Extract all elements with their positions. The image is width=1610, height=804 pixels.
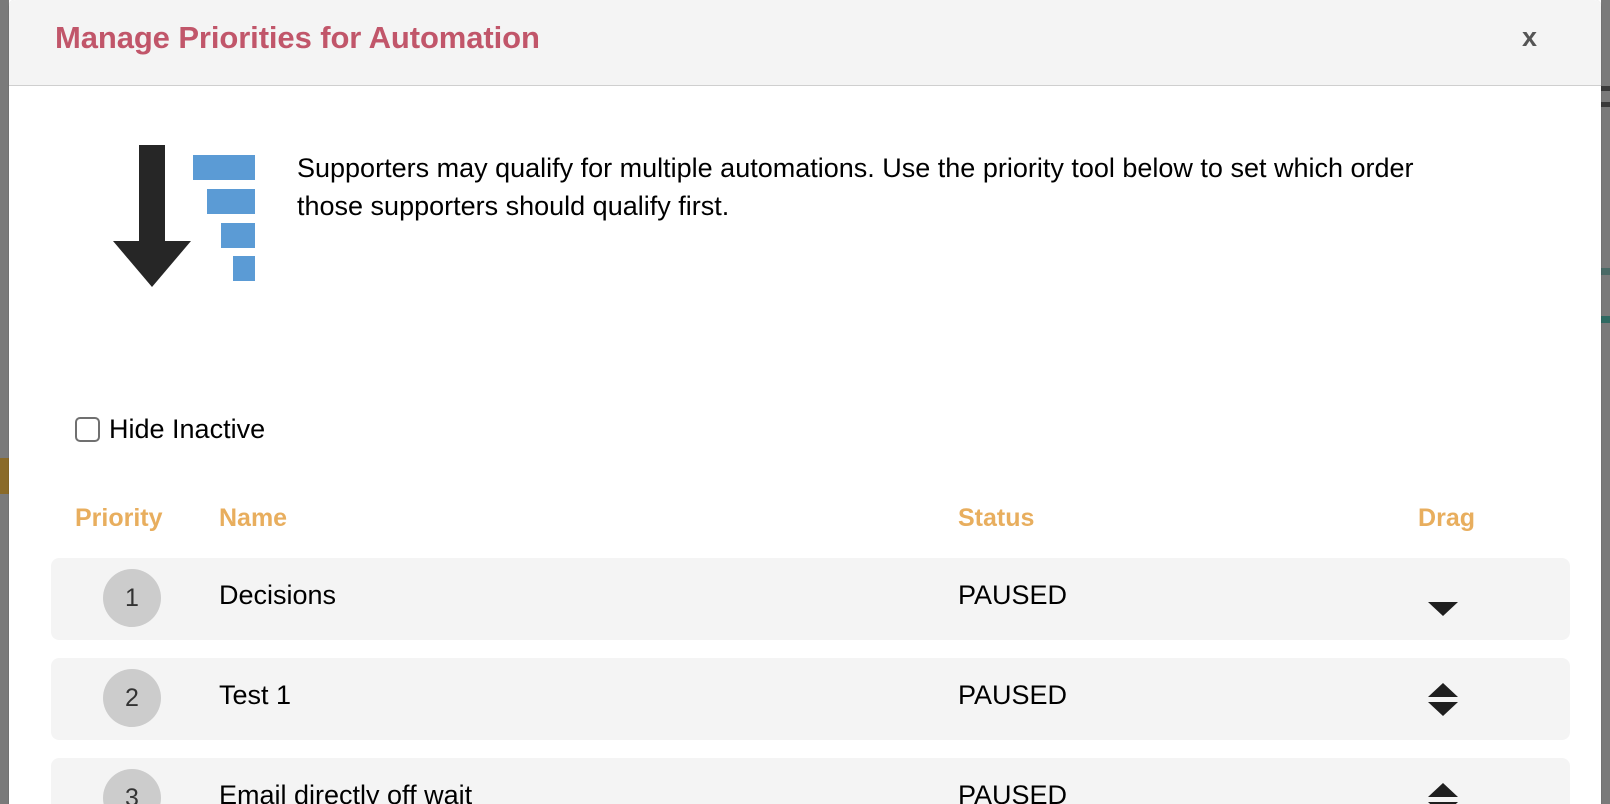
hide-inactive-label[interactable]: Hide Inactive — [109, 416, 265, 443]
status-badge: PAUSED — [958, 580, 1067, 611]
hide-inactive-checkbox[interactable] — [75, 417, 100, 442]
table-row[interactable]: 2Test 1PAUSED — [51, 658, 1570, 740]
priority-badge: 1 — [103, 569, 161, 627]
column-header-priority: Priority — [75, 504, 163, 533]
status-badge: PAUSED — [958, 680, 1067, 711]
table-row[interactable]: 1DecisionsPAUSED — [51, 558, 1570, 640]
column-header-name: Name — [219, 504, 287, 533]
sort-priority-icon — [95, 141, 255, 291]
intro-block: Supporters may qualify for multiple auto… — [9, 141, 1601, 311]
table-row[interactable]: 3Email directly off waitPAUSED — [51, 758, 1570, 804]
background-page-right-marker-3 — [1601, 268, 1610, 275]
move-down-icon[interactable] — [1428, 602, 1458, 616]
hide-inactive-row[interactable]: Hide Inactive — [75, 416, 265, 443]
drag-handle[interactable] — [1411, 658, 1475, 740]
column-header-status: Status — [958, 504, 1034, 533]
background-page-left-accent — [0, 458, 9, 494]
modal-header: Manage Priorities for Automation x — [9, 0, 1601, 86]
table-header-row: Priority Name Status Drag — [9, 496, 1601, 558]
background-page-right-marker-4 — [1601, 316, 1610, 323]
move-down-icon[interactable] — [1428, 702, 1458, 716]
automation-name: Email directly off wait — [219, 780, 472, 804]
status-badge: PAUSED — [958, 780, 1067, 804]
automation-name: Test 1 — [219, 680, 291, 711]
page-title: Manage Priorities for Automation — [55, 20, 540, 56]
priority-badge: 2 — [103, 669, 161, 727]
intro-description: Supporters may qualify for multiple auto… — [297, 149, 1437, 225]
priority-badge: 3 — [103, 769, 161, 804]
priority-rows: 1DecisionsPAUSED2Test 1PAUSED3Email dire… — [9, 558, 1601, 804]
column-header-drag: Drag — [1411, 504, 1475, 533]
move-up-icon[interactable] — [1428, 783, 1458, 797]
drag-handle[interactable] — [1411, 758, 1475, 804]
automation-name: Decisions — [219, 580, 336, 611]
priority-table: Priority Name Status Drag 1DecisionsPAUS… — [9, 496, 1601, 804]
close-icon[interactable]: x — [1522, 24, 1537, 51]
drag-handle[interactable] — [1411, 558, 1475, 640]
move-up-icon[interactable] — [1428, 683, 1458, 697]
background-page-right-edge — [1601, 0, 1610, 804]
background-page-left-edge — [0, 0, 9, 804]
manage-priorities-modal: Manage Priorities for Automation x Suppo… — [9, 0, 1601, 804]
